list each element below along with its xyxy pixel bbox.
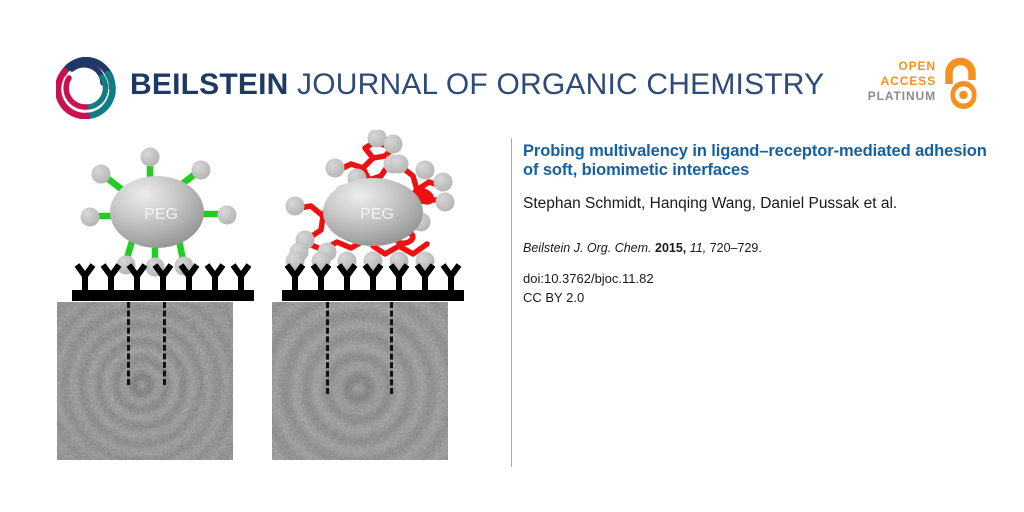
open-padlock-icon <box>940 57 984 115</box>
article-citation: Beilstein J. Org. Chem. 2015, 11, 720–72… <box>523 240 988 257</box>
beilstein-swirl-logo-icon <box>56 57 116 119</box>
micrograph-left <box>57 302 233 460</box>
open-access-line2: ACCESS <box>868 74 936 89</box>
citation-pages: 720–729. <box>710 241 762 255</box>
journal-header: BEILSTEIN JOURNAL OF ORGANIC CHEMISTRY O… <box>0 0 1024 135</box>
article-doi[interactable]: doi:10.3762/bjoc.11.82 <box>523 269 988 288</box>
article-title[interactable]: Probing multivalency in ligand–receptor-… <box>523 142 988 180</box>
contact-marker-right-b <box>390 302 393 394</box>
citation-journal: Beilstein J. Org. Chem. <box>523 241 652 255</box>
citation-year: 2015, <box>655 241 686 255</box>
graphical-abstract-figure: PEG <box>0 130 500 480</box>
graphical-abstract-page: BEILSTEIN JOURNAL OF ORGANIC CHEMISTRY O… <box>0 0 1024 512</box>
open-access-line1: OPEN <box>868 59 936 74</box>
journal-name-rest: JOURNAL OF ORGANIC CHEMISTRY <box>288 68 824 101</box>
peg-label: PEG <box>360 206 394 223</box>
article-license[interactable]: CC BY 2.0 <box>523 288 988 307</box>
substrate-bar <box>282 290 464 301</box>
contact-marker-left-b <box>163 302 166 385</box>
journal-name-bold: BEILSTEIN <box>130 68 288 101</box>
peg-label: PEG <box>144 206 178 223</box>
article-authors: Stephan Schmidt, Hanqing Wang, Daniel Pu… <box>523 193 988 214</box>
open-access-badge: OPEN ACCESS PLATINUM <box>872 57 984 119</box>
micrograph-right <box>272 302 448 460</box>
substrate-bar <box>72 290 254 301</box>
open-access-label-group: OPEN ACCESS PLATINUM <box>868 59 936 104</box>
contact-marker-right-a <box>326 302 329 394</box>
article-metadata: Probing multivalency in ligand–receptor-… <box>523 142 988 307</box>
contact-marker-left-a <box>127 302 130 385</box>
open-access-line3: PLATINUM <box>868 89 936 104</box>
citation-volume: 11, <box>690 241 706 255</box>
column-divider <box>511 138 512 467</box>
journal-title-wordmark: BEILSTEIN JOURNAL OF ORGANIC CHEMISTRY <box>130 68 824 102</box>
